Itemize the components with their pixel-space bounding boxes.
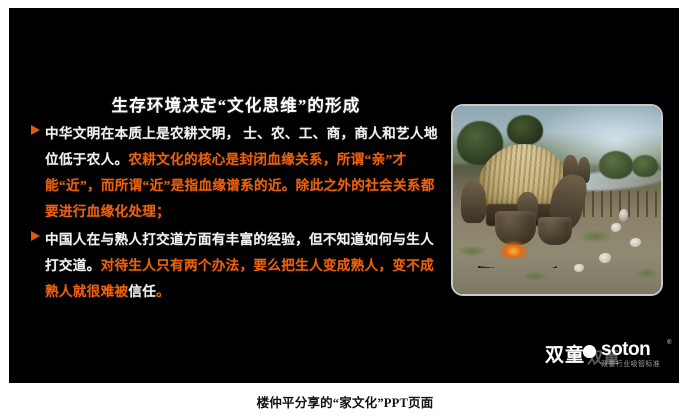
person-figure	[461, 181, 486, 222]
village-diorama-image	[453, 106, 661, 294]
chicken-shape	[574, 264, 584, 272]
chicken-shape	[619, 209, 628, 222]
cooking-pot-shape	[495, 211, 537, 245]
tree-icon	[507, 115, 543, 145]
slide-body: 中华文明在本质上是农耕文明， 士、农、工、商，商人和艺人地位低于农人。农耕文化的…	[31, 121, 443, 307]
bullet-2-run-4: 。	[156, 284, 170, 299]
arrow-triangle-icon	[31, 125, 40, 135]
bullet-2-run-3: 信任	[128, 284, 156, 299]
chicken-shape	[599, 253, 611, 263]
arrow-triangle-icon	[31, 231, 40, 241]
tree-icon	[599, 151, 633, 179]
registered-mark-icon: ®	[667, 340, 671, 346]
ppt-slide: 生存环境决定“文化思维”的形成 中华文明在本质上是农耕文明， 士、农、工、商，商…	[9, 8, 679, 383]
figure-caption: 楼仲平分享的“家文化”PPT页面	[0, 392, 690, 411]
slide-photo	[451, 104, 663, 296]
grass-patch	[636, 268, 658, 278]
bullet-2-run-2: 对待生人只有两个办法，要么把生人变成熟人，变不成熟人就很难被	[45, 258, 434, 299]
cooking-pot-shape	[538, 217, 571, 245]
logo-chinese-text: 双童	[545, 340, 585, 367]
logo-tagline: 双童行业吸管标准	[601, 359, 660, 369]
fence-shape	[574, 191, 657, 217]
slide-title: 生存环境决定“文化思维”的形成	[41, 92, 431, 116]
bullet-paragraph-1: 中华文明在本质上是农耕文明， 士、农、工、商，商人和艺人地位低于农人。农耕文化的…	[31, 121, 443, 225]
firewood-shape	[478, 249, 557, 268]
tree-icon	[632, 155, 658, 177]
chicken-shape	[611, 223, 621, 232]
grass-patch	[522, 271, 548, 281]
bullet-paragraph-2: 中国人在与熟人打交道方面有丰富的经验，但不知道如何与生人打交道。对待生人只有两个…	[31, 227, 443, 305]
chicken-shape	[630, 238, 641, 247]
brand-logo: 双童 soton ® 双童 双童行业吸管标准	[545, 338, 675, 374]
grass-patch	[578, 230, 612, 243]
